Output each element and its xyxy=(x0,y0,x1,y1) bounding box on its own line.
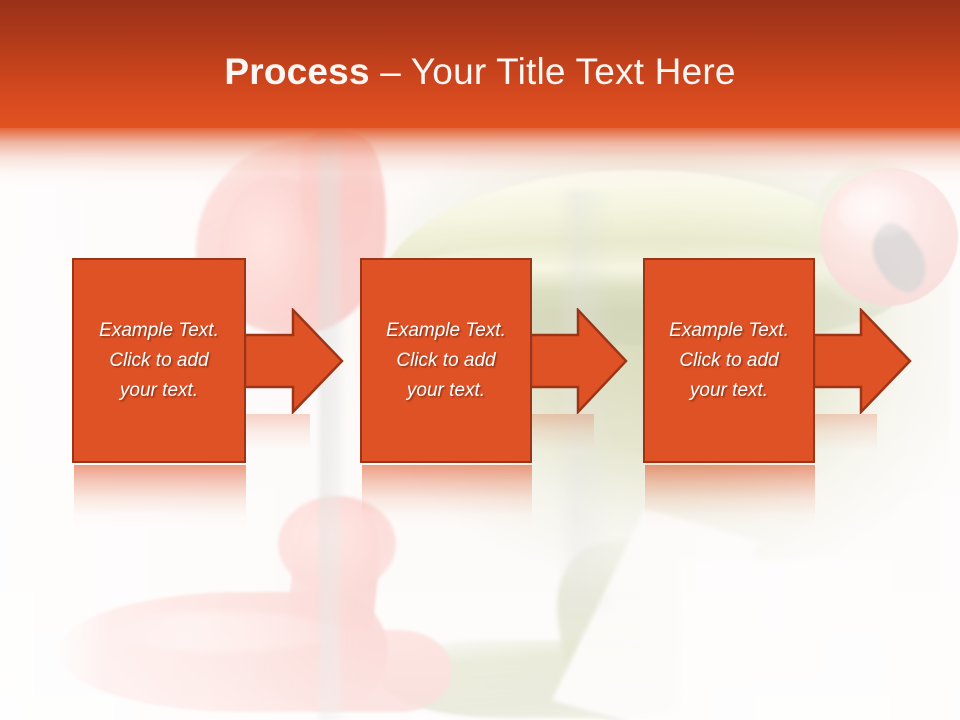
step-reflection xyxy=(74,465,246,527)
arrow-reflection xyxy=(246,414,310,450)
process-diagram: Example Text. Click to add your text. Ex… xyxy=(0,0,960,720)
step-box-2[interactable]: Example Text. Click to add your text. xyxy=(360,258,532,463)
step-label-1: Example Text. Click to add your text. xyxy=(89,316,229,406)
step-reflection xyxy=(645,465,815,527)
arrow-1[interactable] xyxy=(244,308,344,414)
step-label-3: Example Text. Click to add your text. xyxy=(659,316,799,406)
arrow-reflection xyxy=(815,414,877,450)
arrow-2[interactable] xyxy=(530,308,628,414)
step-box-3[interactable]: Example Text. Click to add your text. xyxy=(643,258,815,463)
step-reflection xyxy=(362,465,532,527)
step-label-2: Example Text. Click to add your text. xyxy=(376,316,516,406)
arrow-reflection xyxy=(532,414,594,450)
right-arrow-icon xyxy=(530,308,628,414)
right-arrow-icon xyxy=(813,308,913,414)
slide-canvas: Process – Your Title Text Here Example T… xyxy=(0,0,960,720)
right-arrow-icon xyxy=(244,308,344,414)
arrow-3[interactable] xyxy=(813,308,913,414)
step-box-1[interactable]: Example Text. Click to add your text. xyxy=(72,258,246,463)
